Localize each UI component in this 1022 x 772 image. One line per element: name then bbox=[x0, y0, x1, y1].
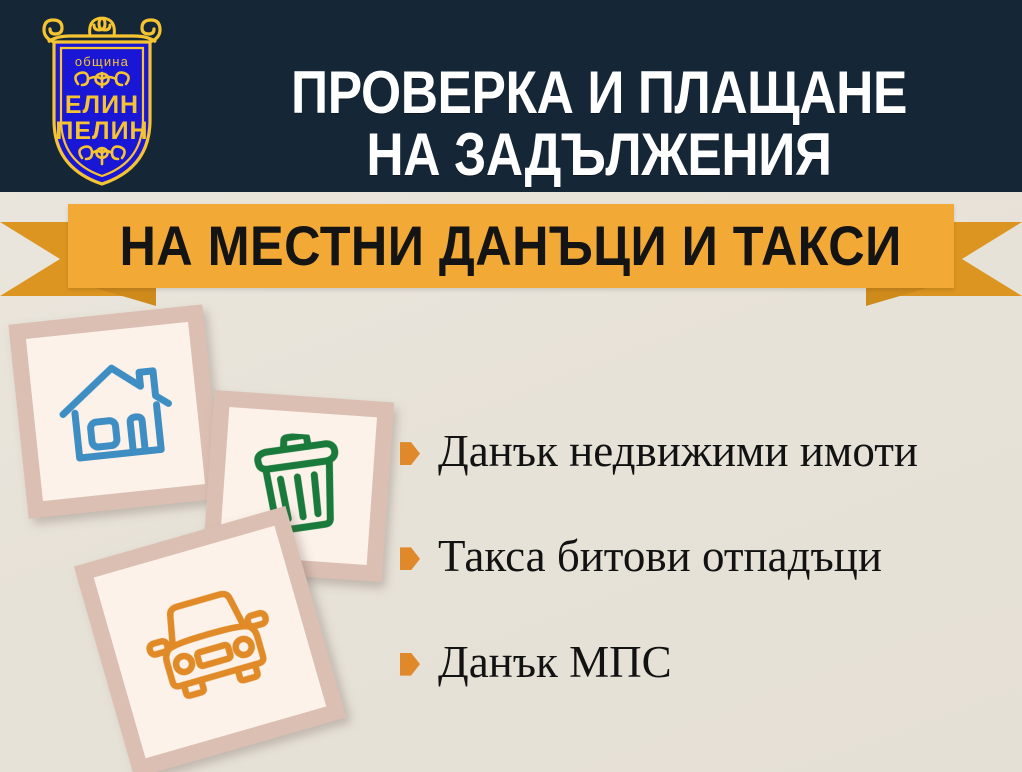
ribbon-label: НА МЕСТНИ ДАНЪЦИ И ТАКСИ bbox=[120, 218, 902, 274]
svg-text:ЕЛИН: ЕЛИН bbox=[65, 91, 139, 119]
house-icon bbox=[51, 352, 180, 472]
car-icon bbox=[134, 574, 286, 709]
list-item: Данък недвижими имоти bbox=[400, 428, 1010, 475]
header-bar: община ЕЛИН ПЕЛИН bbox=[0, 0, 1022, 192]
stamp-card-group bbox=[0, 300, 430, 770]
list-item: Данък МПС bbox=[400, 639, 1010, 686]
coat-of-arms-icon: община ЕЛИН ПЕЛИН bbox=[26, 8, 178, 188]
svg-text:община: община bbox=[75, 54, 129, 69]
bullet-arrow-icon bbox=[400, 653, 420, 676]
list-item-label: Такса битови отпадъци bbox=[438, 533, 882, 580]
page-title-line1: ПРОВЕРКА И ПЛАЩАНЕ bbox=[291, 59, 907, 126]
svg-text:ПЕЛИН: ПЕЛИН bbox=[55, 117, 148, 145]
page-title: ПРОВЕРКА И ПЛАЩАНЕНА ЗАДЪЛЖЕНИЯ bbox=[247, 62, 950, 186]
property-stamp-face bbox=[26, 322, 205, 501]
bullet-arrow-icon bbox=[400, 547, 420, 570]
list-item-label: Данък МПС bbox=[438, 639, 672, 686]
ribbon-band: НА МЕСТНИ ДАНЪЦИ И ТАКСИ bbox=[68, 204, 954, 288]
tax-type-list: Данък недвижими имоти Такса битови отпад… bbox=[400, 428, 1010, 686]
header-inner: община ЕЛИН ПЕЛИН bbox=[0, 0, 1022, 192]
subtitle-ribbon: НА МЕСТНИ ДАНЪЦИ И ТАКСИ bbox=[0, 196, 1022, 308]
list-item: Такса битови отпадъци bbox=[400, 533, 1010, 580]
bullet-arrow-icon bbox=[400, 442, 420, 465]
property-stamp-card bbox=[8, 304, 222, 518]
list-item-label: Данък недвижими имоти bbox=[438, 428, 918, 475]
poster-root: община ЕЛИН ПЕЛИН bbox=[0, 0, 1022, 772]
page-title-line2: НА ЗАДЪЛЖЕНИЯ bbox=[247, 124, 950, 186]
